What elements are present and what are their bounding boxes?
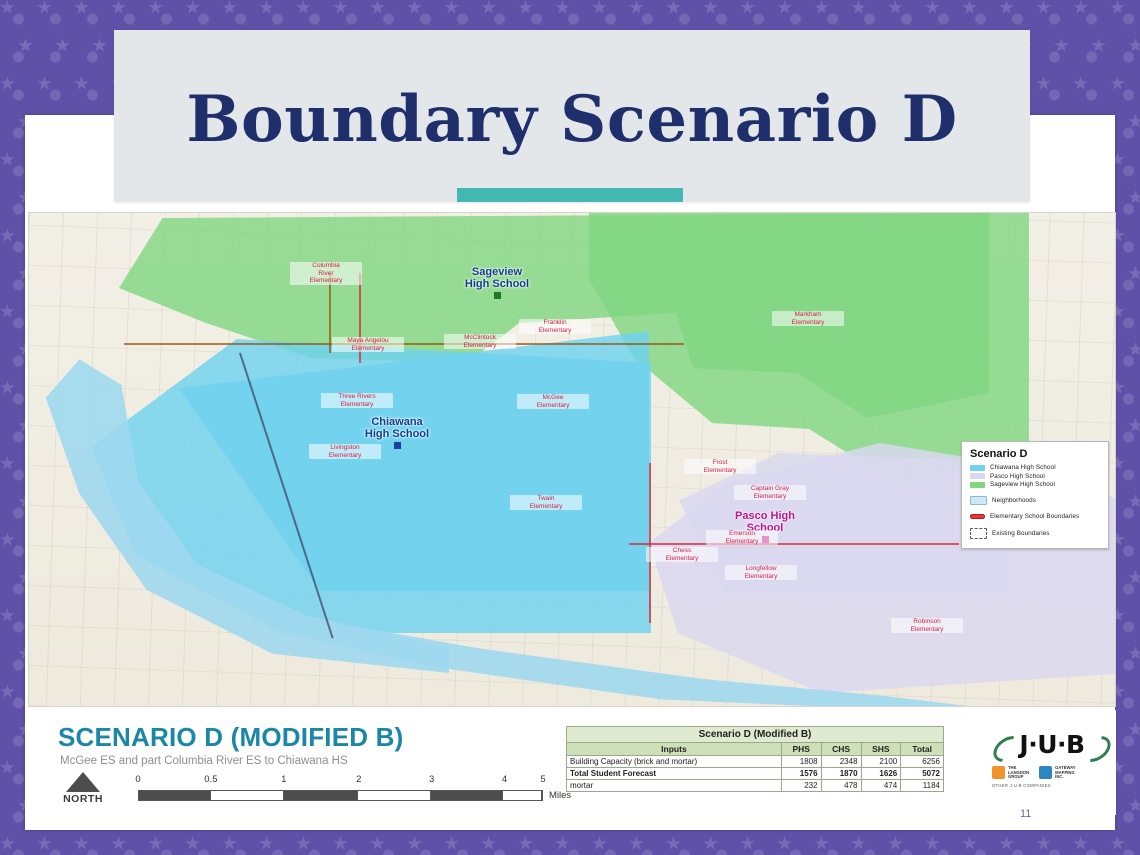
elementary-boundary-icon bbox=[970, 514, 985, 519]
star-icon bbox=[111, 0, 126, 15]
table-row: mortar2324784741184 bbox=[567, 780, 944, 792]
title-accent-bar bbox=[457, 188, 683, 202]
star-icon bbox=[481, 836, 496, 851]
scale-segment bbox=[503, 791, 542, 800]
north-arrow-icon bbox=[66, 772, 100, 792]
capacity-table: Scenario D (Modified B) InputsPHSCHSSHST… bbox=[566, 726, 944, 792]
table-cell: 1808 bbox=[781, 756, 821, 768]
scale-tick: 0 bbox=[135, 774, 140, 785]
scale-segment bbox=[284, 791, 358, 800]
map-footer: SCENARIO D (MODIFIED B) McGee ES and par… bbox=[28, 710, 1116, 815]
star-icon bbox=[370, 836, 385, 851]
jub-wordmark: J·U·B bbox=[992, 728, 1112, 762]
partner-logo-label: GATEWAYMAPPINGINC. bbox=[1055, 766, 1075, 780]
star-icon bbox=[148, 836, 163, 851]
star-icon bbox=[259, 0, 274, 15]
legend-item[interactable]: Pasco High School bbox=[970, 473, 1102, 480]
elementary-school-label: LivingstonElementary bbox=[309, 444, 381, 459]
star-icon bbox=[592, 0, 607, 15]
star-icon bbox=[740, 0, 755, 15]
table-row-label: Total Student Forecast bbox=[567, 768, 782, 780]
legend-spacer bbox=[968, 490, 1102, 495]
table-body: Building Capacity (brick and mortar)1808… bbox=[567, 756, 944, 792]
elementary-boundary-line bbox=[629, 543, 959, 545]
legend-item[interactable]: Sageview High School bbox=[970, 481, 1102, 488]
table-cell: 2348 bbox=[821, 756, 861, 768]
partner-logo-label: THELANGDONGROUP bbox=[1008, 766, 1029, 780]
star-icon bbox=[92, 38, 107, 53]
elementary-school-label: Captain GrayElementary bbox=[734, 485, 806, 500]
area-swatch-icon bbox=[970, 465, 985, 471]
jub-brand-text: J·U·B bbox=[1019, 730, 1084, 759]
legend-item-label: Existing Boundaries bbox=[992, 530, 1050, 537]
star-icon bbox=[962, 0, 977, 15]
area-swatch-icon bbox=[970, 482, 985, 488]
legend-item[interactable]: Existing Boundaries bbox=[970, 528, 1102, 539]
star-icon bbox=[1073, 76, 1088, 91]
jub-logo: J·U·B THELANGDONGROUPGATEWAYMAPPINGINC. … bbox=[992, 728, 1112, 788]
scenario-title: SCENARIO D (MODIFIED B) bbox=[58, 722, 403, 753]
elementary-school-label: Three RiversElementary bbox=[321, 393, 393, 408]
star-icon bbox=[0, 532, 15, 547]
elementary-school-label: McClintockElementary bbox=[444, 334, 516, 349]
star-icon bbox=[37, 0, 52, 15]
high-school-label: SageviewHigh School bbox=[437, 266, 557, 290]
table-cell: 5072 bbox=[901, 768, 944, 780]
elementary-school-label: McGeeElementary bbox=[517, 394, 589, 409]
star-icon bbox=[1128, 266, 1140, 281]
star-icon bbox=[444, 0, 459, 15]
scenario-subtitle: McGee ES and part Columbia River ES to C… bbox=[60, 755, 348, 767]
star-icon bbox=[999, 0, 1014, 15]
legend-title: Scenario D bbox=[970, 448, 1102, 460]
star-icon bbox=[0, 380, 15, 395]
other-companies-text: OTHER J-U-B COMPANIES bbox=[992, 783, 1112, 788]
legend-item-label: Pasco High School bbox=[990, 473, 1045, 480]
star-icon bbox=[74, 836, 89, 851]
star-icon bbox=[333, 0, 348, 15]
star-icon bbox=[777, 0, 792, 15]
star-icon bbox=[888, 0, 903, 15]
star-icon bbox=[777, 836, 792, 851]
table-cell: 1626 bbox=[861, 768, 901, 780]
partner-logo-icon bbox=[992, 766, 1005, 779]
star-icon bbox=[814, 836, 829, 851]
table-header-row: InputsPHSCHSSHSTotal bbox=[567, 743, 944, 756]
table-cell: 232 bbox=[781, 780, 821, 792]
elementary-school-label: MarkhamElementary bbox=[772, 311, 844, 326]
table-row-label: Building Capacity (brick and mortar) bbox=[567, 756, 782, 768]
star-icon bbox=[296, 0, 311, 15]
title-panel: Boundary Scenario D bbox=[114, 30, 1030, 202]
star-icon bbox=[18, 38, 33, 53]
table-cell: 1870 bbox=[821, 768, 861, 780]
star-icon bbox=[1128, 798, 1140, 813]
legend-item-label: Chiawana High School bbox=[990, 464, 1056, 471]
star-icon bbox=[1128, 646, 1140, 661]
map-legend[interactable]: Scenario D Chiawana High SchoolPasco Hig… bbox=[961, 441, 1109, 549]
star-icon bbox=[74, 76, 89, 91]
star-icon bbox=[55, 38, 70, 53]
partner-logo: GATEWAYMAPPINGINC. bbox=[1039, 766, 1075, 780]
elementary-school-label: Maya AngelouElementary bbox=[332, 337, 404, 352]
legend-item[interactable]: Chiawana High School bbox=[970, 464, 1102, 471]
star-icon bbox=[0, 836, 15, 851]
star-icon bbox=[185, 0, 200, 15]
boundary-map[interactable]: SageviewHigh SchoolChiawanaHigh SchoolPa… bbox=[28, 212, 1116, 707]
star-icon bbox=[851, 0, 866, 15]
table-row-label: mortar bbox=[567, 780, 782, 792]
star-icon bbox=[703, 836, 718, 851]
scale-segment bbox=[431, 791, 503, 800]
table-column-header: Inputs bbox=[567, 743, 782, 756]
star-icon bbox=[555, 836, 570, 851]
legend-spacer bbox=[968, 507, 1102, 512]
star-icon bbox=[1128, 418, 1140, 433]
existing-boundary-icon bbox=[970, 528, 987, 539]
elementary-school-label: FrostElementary bbox=[684, 459, 756, 474]
star-icon bbox=[1110, 76, 1125, 91]
star-icon bbox=[444, 836, 459, 851]
sub-logos: THELANGDONGROUPGATEWAYMAPPINGINC. bbox=[992, 766, 1112, 780]
table-caption: Scenario D (Modified B) bbox=[566, 726, 944, 742]
star-icon bbox=[111, 836, 126, 851]
star-icon bbox=[1128, 494, 1140, 509]
star-icon bbox=[1036, 0, 1051, 15]
star-icon bbox=[1036, 76, 1051, 91]
star-icon bbox=[518, 836, 533, 851]
star-icon bbox=[0, 608, 15, 623]
scale-segment bbox=[139, 791, 211, 800]
table-cell: 478 bbox=[821, 780, 861, 792]
legend-item[interactable]: Neighborhoods bbox=[970, 496, 1102, 505]
star-icon bbox=[1036, 836, 1051, 851]
table-column-header: SHS bbox=[861, 743, 901, 756]
scale-segment bbox=[358, 791, 430, 800]
scale-tick: 1 bbox=[281, 774, 286, 785]
star-icon bbox=[1110, 0, 1125, 15]
table-cell: 1576 bbox=[781, 768, 821, 780]
star-icon bbox=[148, 0, 163, 15]
table-cell: 2100 bbox=[861, 756, 901, 768]
table-cell: 474 bbox=[861, 780, 901, 792]
star-icon bbox=[555, 0, 570, 15]
page-number: 11 bbox=[1020, 808, 1031, 820]
elementary-school-label: ChessElementary bbox=[646, 547, 718, 562]
star-icon bbox=[1073, 836, 1088, 851]
legend-spacer bbox=[968, 522, 1102, 527]
star-icon bbox=[1128, 342, 1140, 357]
star-icon bbox=[259, 836, 274, 851]
star-icon bbox=[888, 836, 903, 851]
star-icon bbox=[592, 836, 607, 851]
star-icon bbox=[481, 0, 496, 15]
star-icon bbox=[0, 228, 15, 243]
star-icon bbox=[666, 836, 681, 851]
star-icon bbox=[185, 836, 200, 851]
star-icon bbox=[999, 836, 1014, 851]
star-icon bbox=[407, 836, 422, 851]
star-icon bbox=[925, 836, 940, 851]
high-school-label: ChiawanaHigh School bbox=[337, 416, 457, 440]
star-icon bbox=[814, 0, 829, 15]
star-icon bbox=[629, 0, 644, 15]
table-row: Total Student Forecast1576187016265072 bbox=[567, 768, 944, 780]
scale-tick: 5 bbox=[540, 774, 545, 785]
star-icon bbox=[1110, 836, 1125, 851]
area-swatch-icon bbox=[970, 473, 985, 479]
scale-tick-labels: 00.512345 bbox=[138, 774, 543, 788]
star-icon bbox=[333, 836, 348, 851]
legend-item-label: Elementary School Boundaries bbox=[990, 513, 1079, 520]
star-icon bbox=[1128, 114, 1140, 129]
partner-logo-icon bbox=[1039, 766, 1052, 779]
star-icon bbox=[1128, 190, 1140, 205]
existing-boundary-line bbox=[124, 343, 684, 345]
table-cell: 6256 bbox=[901, 756, 944, 768]
legend-item[interactable]: Elementary School Boundaries bbox=[970, 513, 1102, 520]
partner-logo: THELANGDONGROUP bbox=[992, 766, 1029, 780]
star-icon bbox=[370, 0, 385, 15]
north-label: NORTH bbox=[52, 793, 114, 805]
star-icon bbox=[0, 152, 15, 167]
elementary-school-label: FranklinElementary bbox=[519, 319, 591, 334]
star-icon bbox=[222, 836, 237, 851]
star-icon bbox=[703, 0, 718, 15]
existing-boundary-line bbox=[329, 273, 331, 353]
star-icon bbox=[740, 836, 755, 851]
star-icon bbox=[1091, 38, 1106, 53]
scale-tick: 2 bbox=[356, 774, 361, 785]
neighborhood-swatch-icon bbox=[970, 496, 987, 505]
table-column-header: Total bbox=[901, 743, 944, 756]
star-icon bbox=[0, 304, 15, 319]
star-icon bbox=[37, 76, 52, 91]
elementary-school-label: TwainElementary bbox=[510, 495, 582, 510]
elementary-school-label: LongfellowElementary bbox=[725, 565, 797, 580]
star-icon bbox=[407, 0, 422, 15]
elementary-school-label: EmersonElementary bbox=[706, 530, 778, 545]
star-icon bbox=[851, 836, 866, 851]
legend-item-label: Sageview High School bbox=[990, 481, 1055, 488]
star-icon bbox=[925, 0, 940, 15]
table-column-header: PHS bbox=[781, 743, 821, 756]
scale-tick: 4 bbox=[502, 774, 507, 785]
school-marker-icon bbox=[394, 442, 401, 449]
scale-tick: 3 bbox=[429, 774, 434, 785]
north-arrow: NORTH bbox=[52, 772, 114, 805]
star-icon bbox=[74, 0, 89, 15]
scale-bar bbox=[138, 790, 543, 801]
star-icon bbox=[0, 0, 15, 15]
capacity-table-wrapper: Scenario D (Modified B) InputsPHSCHSSHST… bbox=[566, 726, 944, 792]
star-icon bbox=[0, 76, 15, 91]
star-icon bbox=[962, 836, 977, 851]
star-icon bbox=[1128, 38, 1140, 53]
star-icon bbox=[1128, 570, 1140, 585]
star-icon bbox=[222, 0, 237, 15]
star-icon bbox=[0, 684, 15, 699]
star-icon bbox=[518, 0, 533, 15]
star-icon bbox=[0, 456, 15, 471]
star-icon bbox=[666, 0, 681, 15]
page-title: Boundary Scenario D bbox=[114, 82, 1030, 157]
school-marker-icon bbox=[494, 292, 501, 299]
legend-items: Chiawana High SchoolPasco High SchoolSag… bbox=[968, 464, 1102, 539]
star-icon bbox=[296, 836, 311, 851]
elementary-school-label: ColumbiaRiverElementary bbox=[290, 262, 362, 285]
scale-segment bbox=[211, 791, 283, 800]
star-icon bbox=[1073, 0, 1088, 15]
legend-item-label: Neighborhoods bbox=[992, 497, 1036, 504]
elementary-school-label: RobinsonElementary bbox=[891, 618, 963, 633]
table-row: Building Capacity (brick and mortar)1808… bbox=[567, 756, 944, 768]
star-icon bbox=[1128, 722, 1140, 737]
star-icon bbox=[37, 836, 52, 851]
star-icon bbox=[1054, 38, 1069, 53]
scale-tick: 0.5 bbox=[204, 774, 217, 785]
table-cell: 1184 bbox=[901, 780, 944, 792]
star-icon bbox=[629, 836, 644, 851]
table-column-header: CHS bbox=[821, 743, 861, 756]
star-icon bbox=[0, 760, 15, 775]
